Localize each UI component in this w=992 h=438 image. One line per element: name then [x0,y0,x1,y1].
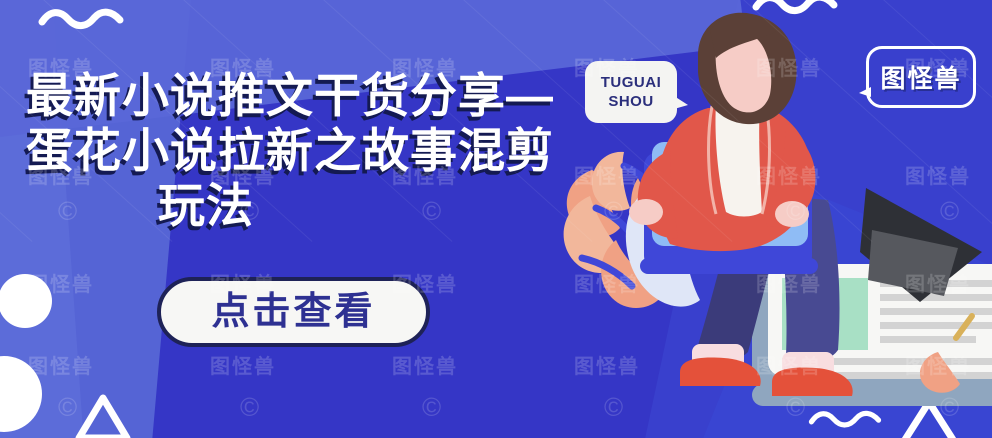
title-line-1: 最新小说推文干货分享— [26,68,586,123]
person-head [698,13,797,124]
speech-bubble: TUGUAI SHOU [585,61,677,123]
speech-bubble-line-1: TUGUAI [601,73,662,92]
promo-banner: 最新小说推文干货分享— 蛋花小说拉新之故事混剪 玩法 点击查看 TUGUAI S… [0,0,992,438]
cta-button-label: 点击查看 [211,293,375,331]
decor-circle-small [0,274,52,328]
decor-squiggle-top-left [38,6,124,36]
brand-badge-label: 图怪兽 [880,59,961,95]
brand-badge: 图怪兽 [866,46,976,108]
cta-button[interactable]: 点击查看 [157,277,430,347]
decor-triangle-bottom-left [74,392,132,438]
title-line-2: 蛋花小说拉新之故事混剪 [26,123,586,178]
title-line-3: 玩法 [26,178,586,233]
speech-bubble-line-2: SHOU [608,92,653,111]
page-title: 最新小说推文干货分享— 蛋花小说拉新之故事混剪 玩法 [26,68,586,233]
